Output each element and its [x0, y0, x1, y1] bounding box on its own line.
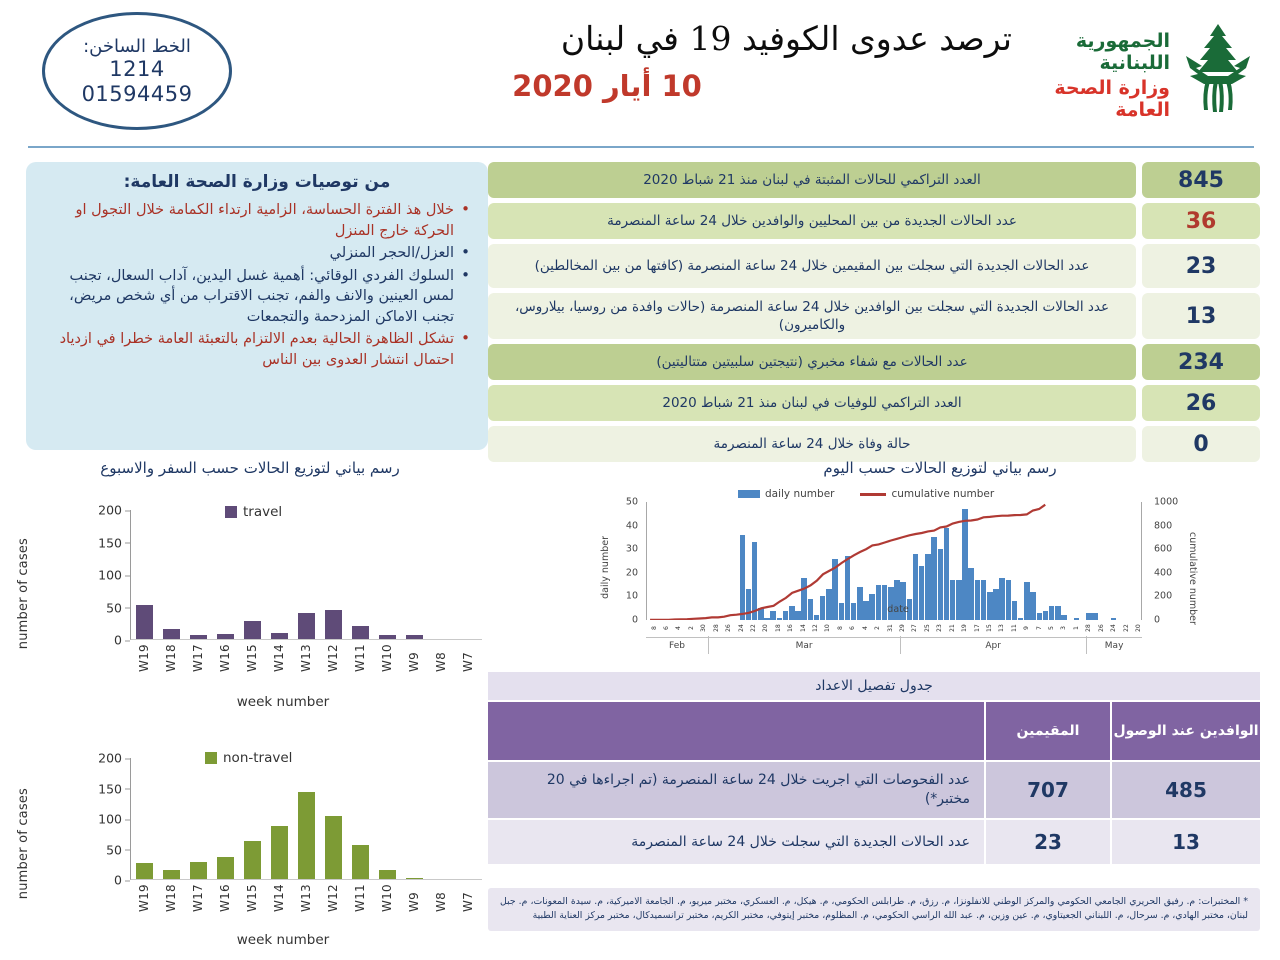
y2-tick-label: 800 — [1154, 520, 1172, 531]
x-tick-label — [807, 620, 811, 636]
x-tick-label: 6 — [663, 620, 670, 636]
detail-cell-residents: 23 — [986, 820, 1110, 864]
stat-label: حالة وفاة خلال 24 ساعة المنصرمة — [488, 426, 1136, 462]
y-tick-label: 50 — [626, 497, 638, 508]
x-tick-label: 8 — [837, 620, 844, 636]
cumulative-line — [647, 502, 1141, 620]
x-tick-label: W7 — [461, 644, 475, 672]
detail-table-caption: جدول تفصيل الاعداد — [488, 672, 1260, 700]
non-travel-bars — [130, 758, 482, 880]
y-tick-label: 40 — [626, 520, 638, 531]
daily-y-axis-right: 02004006008001000 — [1144, 502, 1178, 620]
bar — [325, 610, 342, 639]
x-tick-label: 13 — [998, 620, 1005, 636]
x-tick-label — [795, 620, 799, 636]
daily-chart-title: رسم بياني لتوزيع الحالات حسب اليوم — [600, 459, 1280, 477]
detail-cell-description: عدد الحالات الجديدة التي سجلت خلال 24 سا… — [488, 820, 984, 864]
bar — [163, 870, 180, 879]
x-tick-label — [845, 620, 849, 636]
non-travel-cases-chart: number of cases non-travel 050100150200 … — [10, 748, 490, 953]
x-tick-label: W15 — [245, 884, 259, 912]
x-tick-label: 9 — [1023, 620, 1030, 636]
x-tick-label: W13 — [299, 884, 313, 912]
page-title: ترصد عدوى الكوفيد 19 في لبنان — [352, 18, 1012, 59]
detail-cell-residents: 707 — [986, 762, 1110, 818]
x-tick-label — [1018, 620, 1022, 636]
y-tick-label: 20 — [626, 567, 638, 578]
bar — [325, 816, 342, 879]
month-label: Mar — [796, 641, 813, 651]
x-tick-label: W19 — [137, 644, 151, 672]
x-tick-label: 11 — [1011, 620, 1018, 636]
x-tick-label — [1105, 620, 1109, 636]
x-tick-label: W11 — [353, 644, 367, 672]
x-tick-label: 26 — [725, 620, 732, 636]
x-tick-label: W8 — [434, 644, 448, 672]
hotline-number-primary: 1214 — [109, 57, 164, 81]
x-tick-label: 20 — [1135, 620, 1142, 636]
daily-y2-axis-label: cumulative number — [1187, 532, 1198, 625]
x-tick-label — [969, 620, 973, 636]
daily-month-labels: FebMarAprMay — [646, 637, 1142, 653]
x-tick-label: 16 — [787, 620, 794, 636]
recommendation-item: العزل/الحجر المنزلي — [44, 243, 470, 264]
bar — [136, 863, 153, 879]
daily-legend-cumulative: cumulative number — [860, 488, 994, 500]
bar — [379, 870, 396, 879]
x-tick-label: W11 — [353, 884, 367, 912]
x-tick-label: 2 — [874, 620, 881, 636]
stat-row: 234 عدد الحالات مع شفاء مخبري (نتيجتين س… — [488, 344, 1260, 380]
y-tick-label: 150 — [98, 781, 122, 796]
travel-x-tick-labels: W7W8W9W10W11W12W13W14W15W16W17W18W19 — [130, 644, 482, 672]
x-tick-label: W14 — [272, 884, 286, 912]
y-tick-label: 0 — [632, 615, 638, 626]
non-travel-plot: 050100150200 — [84, 758, 482, 880]
x-tick-label — [956, 620, 960, 636]
detail-cell-arrivals: 13 — [1112, 820, 1260, 864]
x-tick-label — [1068, 620, 1072, 636]
x-tick-label — [770, 620, 774, 636]
x-tick-label: 10 — [824, 620, 831, 636]
non-travel-y-axis: 050100150200 — [84, 758, 130, 880]
detail-table: جدول تفصيل الاعداد الوافدين عند الوصول 4… — [488, 672, 1260, 864]
left-charts-title: رسم بياني لتوزيع الحالات حسب السفر والاس… — [40, 459, 460, 477]
bar — [163, 629, 180, 639]
x-tick-label — [981, 620, 985, 636]
detail-header-arrivals: الوافدين عند الوصول — [1112, 702, 1260, 760]
daily-x-axis: 2022242628135791113151719212325272931246… — [646, 620, 1142, 653]
x-tick-label — [1031, 620, 1035, 636]
stat-label: عدد الحالات مع شفاء مخبري (نتيجتين سلبيت… — [488, 344, 1136, 380]
x-tick-label: W17 — [191, 884, 205, 912]
x-tick-label: 26 — [1098, 620, 1105, 636]
daily-legend: daily number cumulative number — [738, 488, 994, 500]
x-tick-label: 1 — [1073, 620, 1080, 636]
x-tick-label — [658, 620, 662, 636]
bar — [406, 635, 423, 640]
travel-cases-chart: number of cases travel 050100150200 W7W8… — [10, 498, 490, 720]
x-tick-label — [1056, 620, 1060, 636]
daily-plot-area — [646, 502, 1142, 620]
detail-header-blank — [488, 702, 984, 760]
daily-legend-daily: daily number — [738, 488, 834, 500]
stat-row: 26 العدد التراكمي للوفيات في لبنان منذ 2… — [488, 385, 1260, 421]
stat-row: 23 عدد الحالات الجديدة التي سجلت بين الم… — [488, 244, 1260, 288]
x-tick-label: 28 — [713, 620, 720, 636]
stat-row: 36 عدد الحالات الجديدة من بين المحليين و… — [488, 203, 1260, 239]
month-separator — [1086, 636, 1087, 654]
y-tick-label: 10 — [626, 591, 638, 602]
daily-y-axis-label: daily number — [600, 536, 611, 599]
x-tick-label: 8 — [651, 620, 658, 636]
y-tick-label: 100 — [98, 568, 122, 583]
x-tick-label: W18 — [164, 884, 178, 912]
x-tick-label — [869, 620, 873, 636]
bar — [406, 878, 423, 879]
stat-value: 234 — [1142, 344, 1260, 380]
x-tick-label: 25 — [924, 620, 931, 636]
key-statistics: 845 العدد التراكمي للحالات المثبتة في لب… — [488, 162, 1260, 467]
travel-bars — [130, 510, 482, 640]
travel-x-axis-label: week number — [84, 694, 482, 710]
non-travel-y-axis-label: number of cases — [16, 788, 31, 899]
month-label: May — [1105, 641, 1124, 651]
x-tick-label: W9 — [407, 884, 421, 912]
x-tick-label: W16 — [218, 884, 232, 912]
stat-row: 0 حالة وفاة خلال 24 ساعة المنصرمة — [488, 426, 1260, 462]
recommendations-panel: من توصيات وزارة الصحة العامة: خلال هذ ال… — [26, 162, 488, 450]
month-label: Feb — [669, 641, 685, 651]
stat-row: 845 العدد التراكمي للحالات المثبتة في لب… — [488, 162, 1260, 198]
x-tick-label: 14 — [800, 620, 807, 636]
detail-cell-description: عدد الفحوصات التي اجريت خلال 24 ساعة الم… — [488, 762, 984, 818]
x-tick-label: 27 — [911, 620, 918, 636]
y-tick-label: 0 — [114, 633, 122, 648]
x-tick-label: 20 — [762, 620, 769, 636]
detail-cell-arrivals: 485 — [1112, 762, 1260, 818]
y-tick-label: 150 — [98, 535, 122, 550]
daily-legend-bar-swatch — [738, 490, 760, 498]
x-tick-label: W15 — [245, 644, 259, 672]
detail-column-residents: المقيمين 707 23 — [986, 702, 1110, 864]
y-tick-label: 200 — [98, 751, 122, 766]
bar — [217, 634, 234, 639]
title-block: ترصد عدوى الكوفيد 19 في لبنان 10 أيار 20… — [352, 18, 1012, 103]
ministry-logo-text: الجمهورية اللبنانية وزارة الصحة العامة — [1016, 30, 1170, 121]
x-tick-label: 31 — [887, 620, 894, 636]
x-tick-label — [932, 620, 936, 636]
daily-y-axis-left: 01020304050 — [616, 502, 644, 620]
x-tick-label: W14 — [272, 644, 286, 672]
x-tick-label: 5 — [1048, 620, 1055, 636]
bar — [352, 845, 369, 879]
x-tick-label: W17 — [191, 644, 205, 672]
x-tick-label: 3 — [1060, 620, 1067, 636]
x-tick-label: W8 — [434, 884, 448, 912]
month-label: Apr — [985, 641, 1001, 651]
y-tick-label: 200 — [98, 503, 122, 518]
y-tick-label: 50 — [106, 600, 122, 615]
x-tick-label: W10 — [380, 884, 394, 912]
x-tick-label — [758, 620, 762, 636]
bar — [271, 826, 288, 879]
x-tick-label: 24 — [738, 620, 745, 636]
stat-value: 0 — [1142, 426, 1260, 462]
x-tick-label — [782, 620, 786, 636]
x-tick-label: 23 — [936, 620, 943, 636]
daily-cumulative-chart: daily number cumulative number daily num… — [598, 488, 1198, 663]
daily-x-tick-labels: 2022242628135791113151719212325272931246… — [646, 620, 1142, 636]
recommendation-item: السلوك الفردي الوقائي: أهمية غسل اليدين،… — [44, 266, 470, 328]
x-tick-label: 29 — [899, 620, 906, 636]
bar — [136, 605, 153, 639]
republic-label: الجمهورية اللبنانية — [1016, 30, 1170, 74]
travel-plot: 050100150200 — [84, 510, 482, 640]
stat-value: 845 — [1142, 162, 1260, 198]
x-tick-label: 22 — [750, 620, 757, 636]
x-tick-label: 30 — [700, 620, 707, 636]
x-tick-label: 12 — [812, 620, 819, 636]
x-tick-label — [1118, 620, 1122, 636]
non-travel-x-axis-label: week number — [84, 932, 482, 948]
stat-label: عدد الحالات الجديدة التي سجلت بين المقيم… — [488, 244, 1136, 288]
recommendation-item: خلال هذ الفترة الحساسة، الزامية ارتداء ا… — [44, 200, 470, 241]
x-tick-label — [907, 620, 911, 636]
stat-label: العدد التراكمي للوفيات في لبنان منذ 21 ش… — [488, 385, 1136, 421]
x-tick-label: 15 — [986, 620, 993, 636]
x-tick-label — [720, 620, 724, 636]
stat-value: 23 — [1142, 244, 1260, 288]
x-tick-label: 18 — [775, 620, 782, 636]
x-tick-label — [671, 620, 675, 636]
bar — [271, 633, 288, 639]
x-tick-label: 6 — [849, 620, 856, 636]
x-tick-label — [646, 620, 650, 636]
bar — [244, 621, 261, 639]
x-tick-label — [683, 620, 687, 636]
x-tick-label — [1006, 620, 1010, 636]
y2-tick-label: 400 — [1154, 567, 1172, 578]
x-tick-label: W7 — [461, 884, 475, 912]
x-tick-label: W16 — [218, 644, 232, 672]
x-tick-label: W12 — [326, 644, 340, 672]
daily-x-axis-label: date — [887, 604, 908, 615]
x-tick-label — [882, 620, 886, 636]
x-tick-label: 4 — [862, 620, 869, 636]
report-date: 10 أيار 2020 — [352, 69, 1012, 103]
stat-label: عدد الحالات الجديدة من بين المحليين والو… — [488, 203, 1136, 239]
bar — [190, 862, 207, 879]
y2-tick-label: 0 — [1154, 615, 1160, 626]
x-tick-label: 24 — [1110, 620, 1117, 636]
stat-row: 13 عدد الحالات الجديدة التي سجلت بين الو… — [488, 293, 1260, 339]
x-tick-label: 4 — [675, 620, 682, 636]
x-tick-label: 19 — [961, 620, 968, 636]
x-tick-label: 21 — [949, 620, 956, 636]
hotline-badge: الخط الساخن: 1214 01594459 — [42, 12, 232, 130]
detail-column-arrivals: الوافدين عند الوصول 485 13 — [1112, 702, 1260, 864]
bar — [298, 613, 315, 639]
bar — [217, 857, 234, 879]
bar — [379, 635, 396, 639]
ministry-logo: الجمهورية اللبنانية وزارة الصحة العامة — [1016, 22, 1266, 118]
x-tick-label: W18 — [164, 644, 178, 672]
travel-y-axis-label: number of cases — [16, 538, 31, 649]
stat-value: 13 — [1142, 293, 1260, 339]
y-tick-label: 100 — [98, 812, 122, 827]
x-tick-label — [696, 620, 700, 636]
x-tick-label — [894, 620, 898, 636]
y2-tick-label: 600 — [1154, 544, 1172, 555]
bar — [244, 841, 261, 879]
month-separator — [708, 636, 709, 654]
x-tick-label — [820, 620, 824, 636]
bar — [298, 792, 315, 879]
x-tick-label — [994, 620, 998, 636]
recommendations-title: من توصيات وزارة الصحة العامة: — [44, 172, 470, 192]
x-tick-label: 28 — [1085, 620, 1092, 636]
x-tick-label — [857, 620, 861, 636]
x-tick-label: W19 — [137, 884, 151, 912]
stat-label: العدد التراكمي للحالات المثبتة في لبنان … — [488, 162, 1136, 198]
x-tick-label — [733, 620, 737, 636]
recommendation-item: تشكل الظاهرة الحالية بعدم الالتزام بالتع… — [44, 329, 470, 370]
recommendations-list: خلال هذ الفترة الحساسة، الزامية ارتداء ا… — [44, 200, 470, 371]
bar — [190, 635, 207, 639]
detail-column-description: عدد الفحوصات التي اجريت خلال 24 ساعة الم… — [488, 702, 984, 864]
daily-legend-cumulative-label: cumulative number — [891, 488, 994, 500]
x-tick-label — [1043, 620, 1047, 636]
hotline-number-secondary: 01594459 — [82, 82, 193, 106]
cedar-tree-icon — [1176, 22, 1260, 114]
stat-label: عدد الحالات الجديدة التي سجلت بين الوافد… — [488, 293, 1136, 339]
y-tick-label: 50 — [106, 842, 122, 857]
travel-y-axis: 050100150200 — [84, 510, 130, 640]
y-tick-label: 30 — [626, 544, 638, 555]
x-tick-label: W9 — [407, 644, 421, 672]
y2-tick-label: 200 — [1154, 591, 1172, 602]
detail-table-grid: الوافدين عند الوصول 485 13 المقيمين 707 … — [488, 702, 1260, 864]
x-tick-label: W10 — [380, 644, 394, 672]
hotline-label: الخط الساخن: — [83, 36, 191, 57]
page-header: الخط الساخن: 1214 01594459 ترصد عدوى الك… — [0, 0, 1280, 150]
x-tick-label: 17 — [974, 620, 981, 636]
detail-header-residents: المقيمين — [986, 702, 1110, 760]
month-separator — [900, 636, 901, 654]
y-tick-label: 0 — [114, 873, 122, 888]
y2-tick-label: 1000 — [1154, 497, 1178, 508]
bar — [352, 626, 369, 639]
x-tick-label — [1130, 620, 1134, 636]
x-tick-label: 2 — [688, 620, 695, 636]
header-divider — [28, 146, 1254, 148]
x-tick-label — [708, 620, 712, 636]
ministry-label: وزارة الصحة العامة — [1016, 77, 1170, 121]
x-tick-label — [1081, 620, 1085, 636]
x-tick-label: W12 — [326, 884, 340, 912]
x-tick-label — [1093, 620, 1097, 636]
laboratories-footnote: * المختبرات: م. رفيق الحريري الجامعي الح… — [488, 888, 1260, 931]
x-tick-label — [832, 620, 836, 636]
stat-value: 26 — [1142, 385, 1260, 421]
x-tick-label — [745, 620, 749, 636]
x-tick-label — [919, 620, 923, 636]
x-tick-label — [944, 620, 948, 636]
stat-value: 36 — [1142, 203, 1260, 239]
x-tick-label: 7 — [1036, 620, 1043, 636]
x-tick-label: 22 — [1123, 620, 1130, 636]
daily-legend-daily-label: daily number — [765, 488, 834, 500]
non-travel-x-tick-labels: W7W8W9W10W11W12W13W14W15W16W17W18W19 — [130, 884, 482, 912]
daily-legend-line-swatch — [860, 493, 886, 496]
x-tick-label: W13 — [299, 644, 313, 672]
